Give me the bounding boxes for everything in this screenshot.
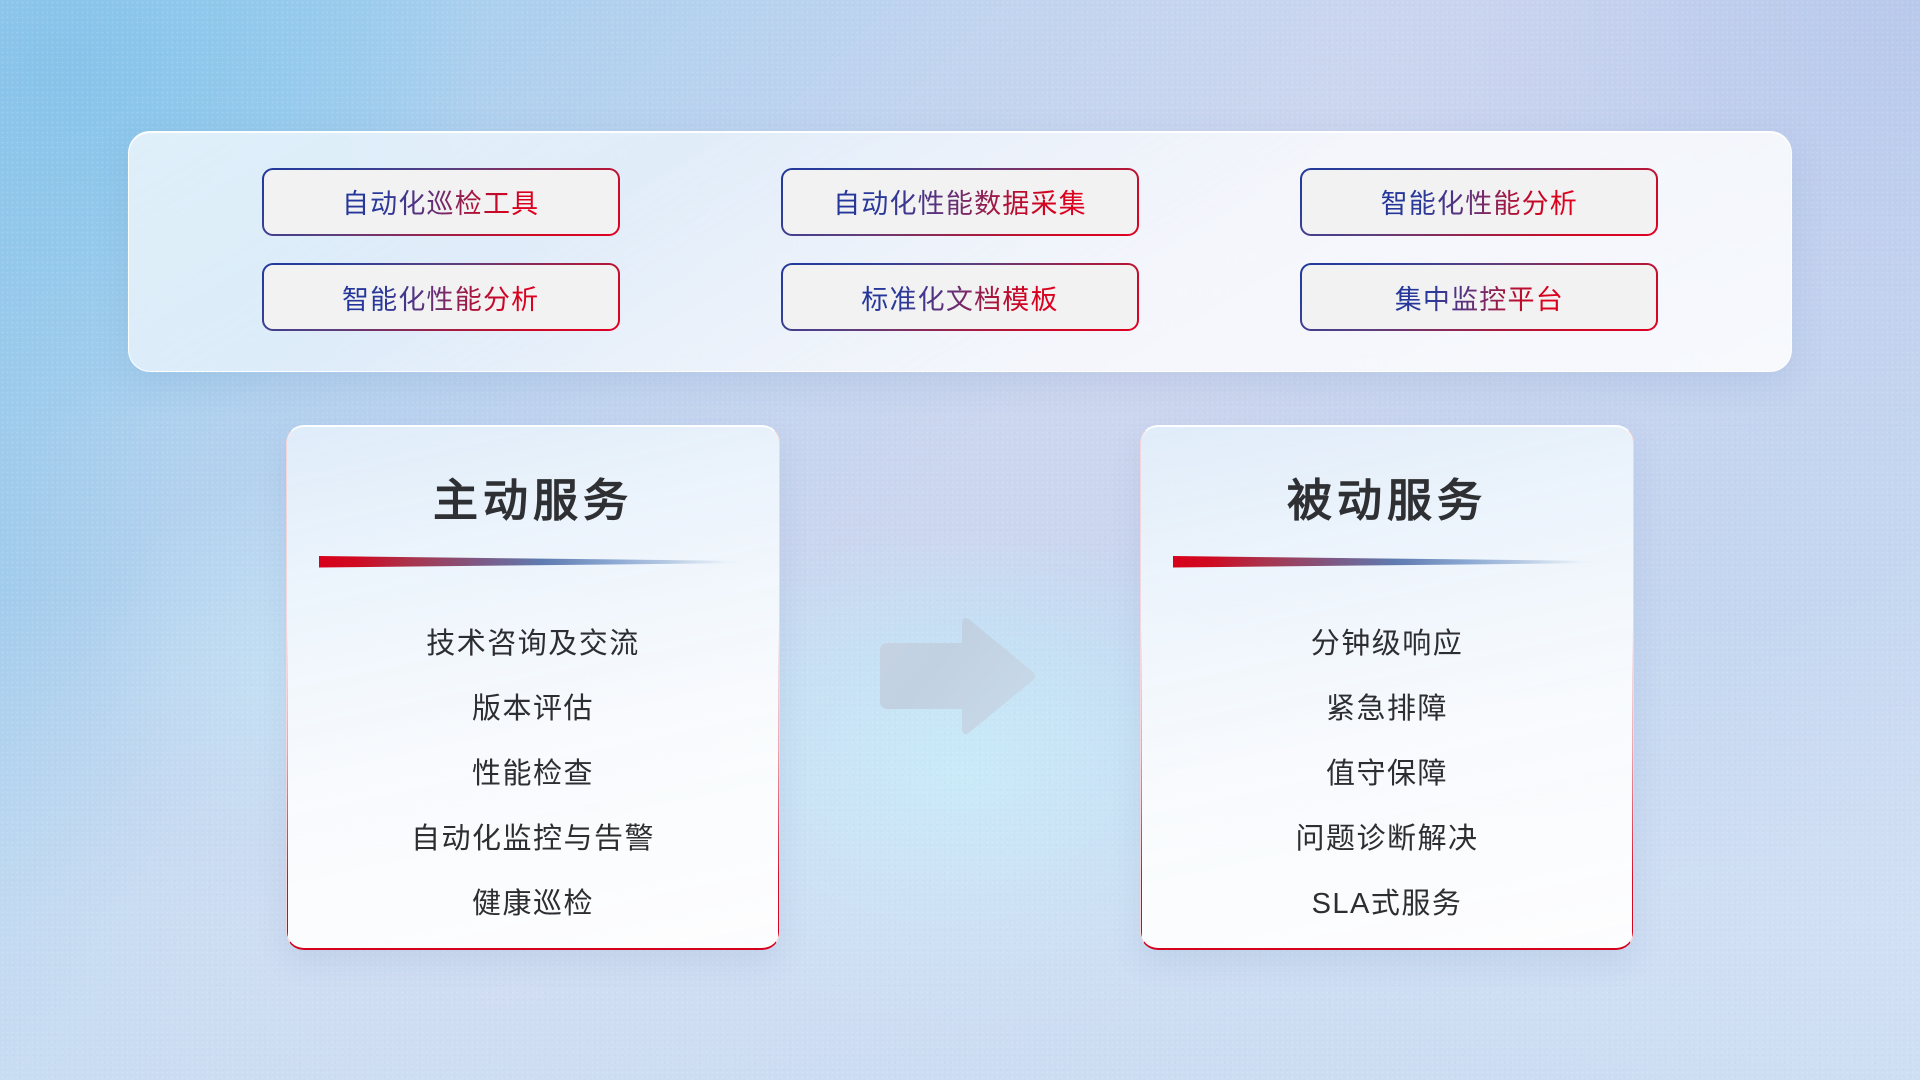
capability-tag-standard-doc-template[interactable]: 标准化文档模板: [781, 263, 1139, 331]
capability-tag-intelligent-perf-analysis-2[interactable]: 智能化性能分析: [262, 263, 620, 331]
service-list-item: 问题诊断解决: [1295, 807, 1478, 872]
service-list-item: 自动化监控与告警: [411, 807, 655, 872]
service-list-item: 性能检查: [472, 742, 594, 807]
service-list-item: 紧急排障: [1326, 677, 1448, 742]
capability-tag-label: 自动化巡检工具: [342, 182, 539, 221]
service-list-item: SLA式服务: [1312, 872, 1463, 937]
service-list-item: 分钟级响应: [1311, 612, 1464, 677]
capability-tags-panel: 自动化巡检工具 自动化性能数据采集 智能化性能分析 智能化性能分析 标准化文档模…: [128, 131, 1792, 372]
service-list-item: 健康巡检: [472, 872, 594, 937]
divider-wedge: [1173, 555, 1601, 568]
title-divider: [1173, 555, 1601, 568]
service-card-passive: 被动服务 分钟级响应 紧急排障 值守保障 问题诊断解决 SLA式服务: [1140, 425, 1634, 950]
capability-tag-auto-inspection-tool[interactable]: 自动化巡检工具: [262, 168, 620, 236]
capability-tag-label: 智能化性能分析: [342, 278, 539, 317]
capability-tag-label: 集中监控平台: [1395, 278, 1564, 317]
capability-tag-label: 自动化性能数据采集: [833, 182, 1087, 221]
capability-tag-intelligent-perf-analysis-1[interactable]: 智能化性能分析: [1300, 168, 1658, 236]
capability-tag-label: 智能化性能分析: [1381, 182, 1578, 221]
capability-tag-label: 标准化文档模板: [861, 278, 1058, 317]
service-list-item: 技术咨询及交流: [426, 612, 640, 677]
service-card-title: 被动服务: [1141, 464, 1633, 529]
service-item-list: 分钟级响应 紧急排障 值守保障 问题诊断解决 SLA式服务: [1141, 612, 1633, 937]
service-card-active: 主动服务 技术咨询及交流 版本评估 性能检查 自动化监控与告警 健康巡检: [286, 425, 780, 950]
capability-tag-auto-perf-data-collection[interactable]: 自动化性能数据采集: [781, 168, 1139, 236]
service-item-list: 技术咨询及交流 版本评估 性能检查 自动化监控与告警 健康巡检: [287, 612, 779, 937]
service-list-item: 值守保障: [1326, 742, 1448, 807]
title-divider: [319, 555, 747, 568]
service-list-item: 版本评估: [472, 677, 594, 742]
arrow-right-icon: [872, 613, 1036, 737]
slide-canvas: 自动化巡检工具 自动化性能数据采集 智能化性能分析 智能化性能分析 标准化文档模…: [0, 0, 1920, 1080]
divider-wedge: [319, 555, 747, 568]
service-card-title: 主动服务: [287, 464, 779, 529]
capability-tag-central-monitoring-platform[interactable]: 集中监控平台: [1300, 263, 1658, 331]
